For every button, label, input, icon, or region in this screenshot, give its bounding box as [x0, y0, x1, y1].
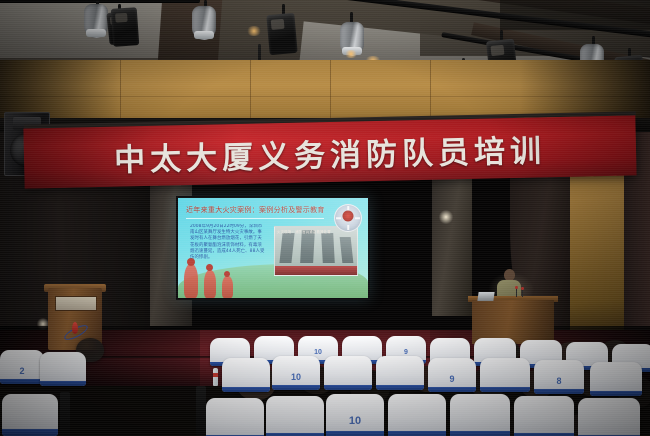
stage-light-fresnel [192, 6, 216, 40]
seat-number: 2 [0, 366, 44, 376]
seat[interactable]: 2 [0, 350, 44, 384]
seat[interactable] [514, 396, 574, 436]
seat[interactable] [578, 398, 640, 436]
screen-glare [178, 198, 368, 298]
lamp-glow [344, 50, 358, 58]
seat[interactable] [480, 358, 530, 392]
seat[interactable] [450, 394, 510, 436]
seat[interactable] [590, 362, 642, 396]
microphone-head [515, 286, 518, 289]
lamp-glow [246, 26, 262, 36]
seat-number: 9 [386, 349, 426, 356]
audience-seating: 1092109810 [0, 336, 650, 436]
seat-number: 10 [298, 349, 338, 356]
projection-screen: 近年来重大火灾案例：案例分析及警示教育 2008年9月20日22时09分，深圳市… [178, 198, 368, 298]
seat[interactable] [40, 352, 86, 386]
seat-number: 10 [272, 372, 320, 382]
seat[interactable] [376, 356, 424, 390]
presenter-laptop [477, 292, 494, 301]
seat[interactable] [206, 398, 264, 436]
seat[interactable]: 9 [428, 358, 476, 392]
seat-armrest [196, 386, 206, 436]
seat[interactable] [324, 356, 372, 390]
seat[interactable] [2, 394, 58, 436]
stage-light-par [111, 7, 140, 47]
stage-light-fresnel [84, 4, 108, 38]
wall-light-spot [438, 210, 454, 224]
seat[interactable] [388, 394, 446, 436]
auditorium-photo: 中太大厦义务消防队员培训 近年来重大火灾案例：案例分析及警示教育 2008年9月… [0, 0, 650, 436]
water-bottle [213, 368, 218, 386]
seat[interactable] [266, 396, 324, 436]
lectern-front-panel [55, 296, 97, 311]
seat[interactable]: 10 [326, 394, 384, 436]
microphone-stem [522, 289, 523, 297]
seat-number: 9 [428, 374, 476, 384]
seat[interactable]: 8 [534, 360, 584, 394]
microphone-head [521, 287, 524, 290]
seat[interactable]: 10 [272, 356, 320, 390]
seat[interactable] [222, 358, 270, 392]
seat-armrest [60, 392, 70, 436]
seat-number: 10 [326, 415, 384, 427]
stage-light-par [266, 13, 297, 55]
seat-number: 8 [534, 376, 584, 386]
wall-pillar-right [432, 176, 472, 316]
lighting-truss-pipe [0, 0, 200, 3]
microphone-stem [516, 288, 517, 297]
